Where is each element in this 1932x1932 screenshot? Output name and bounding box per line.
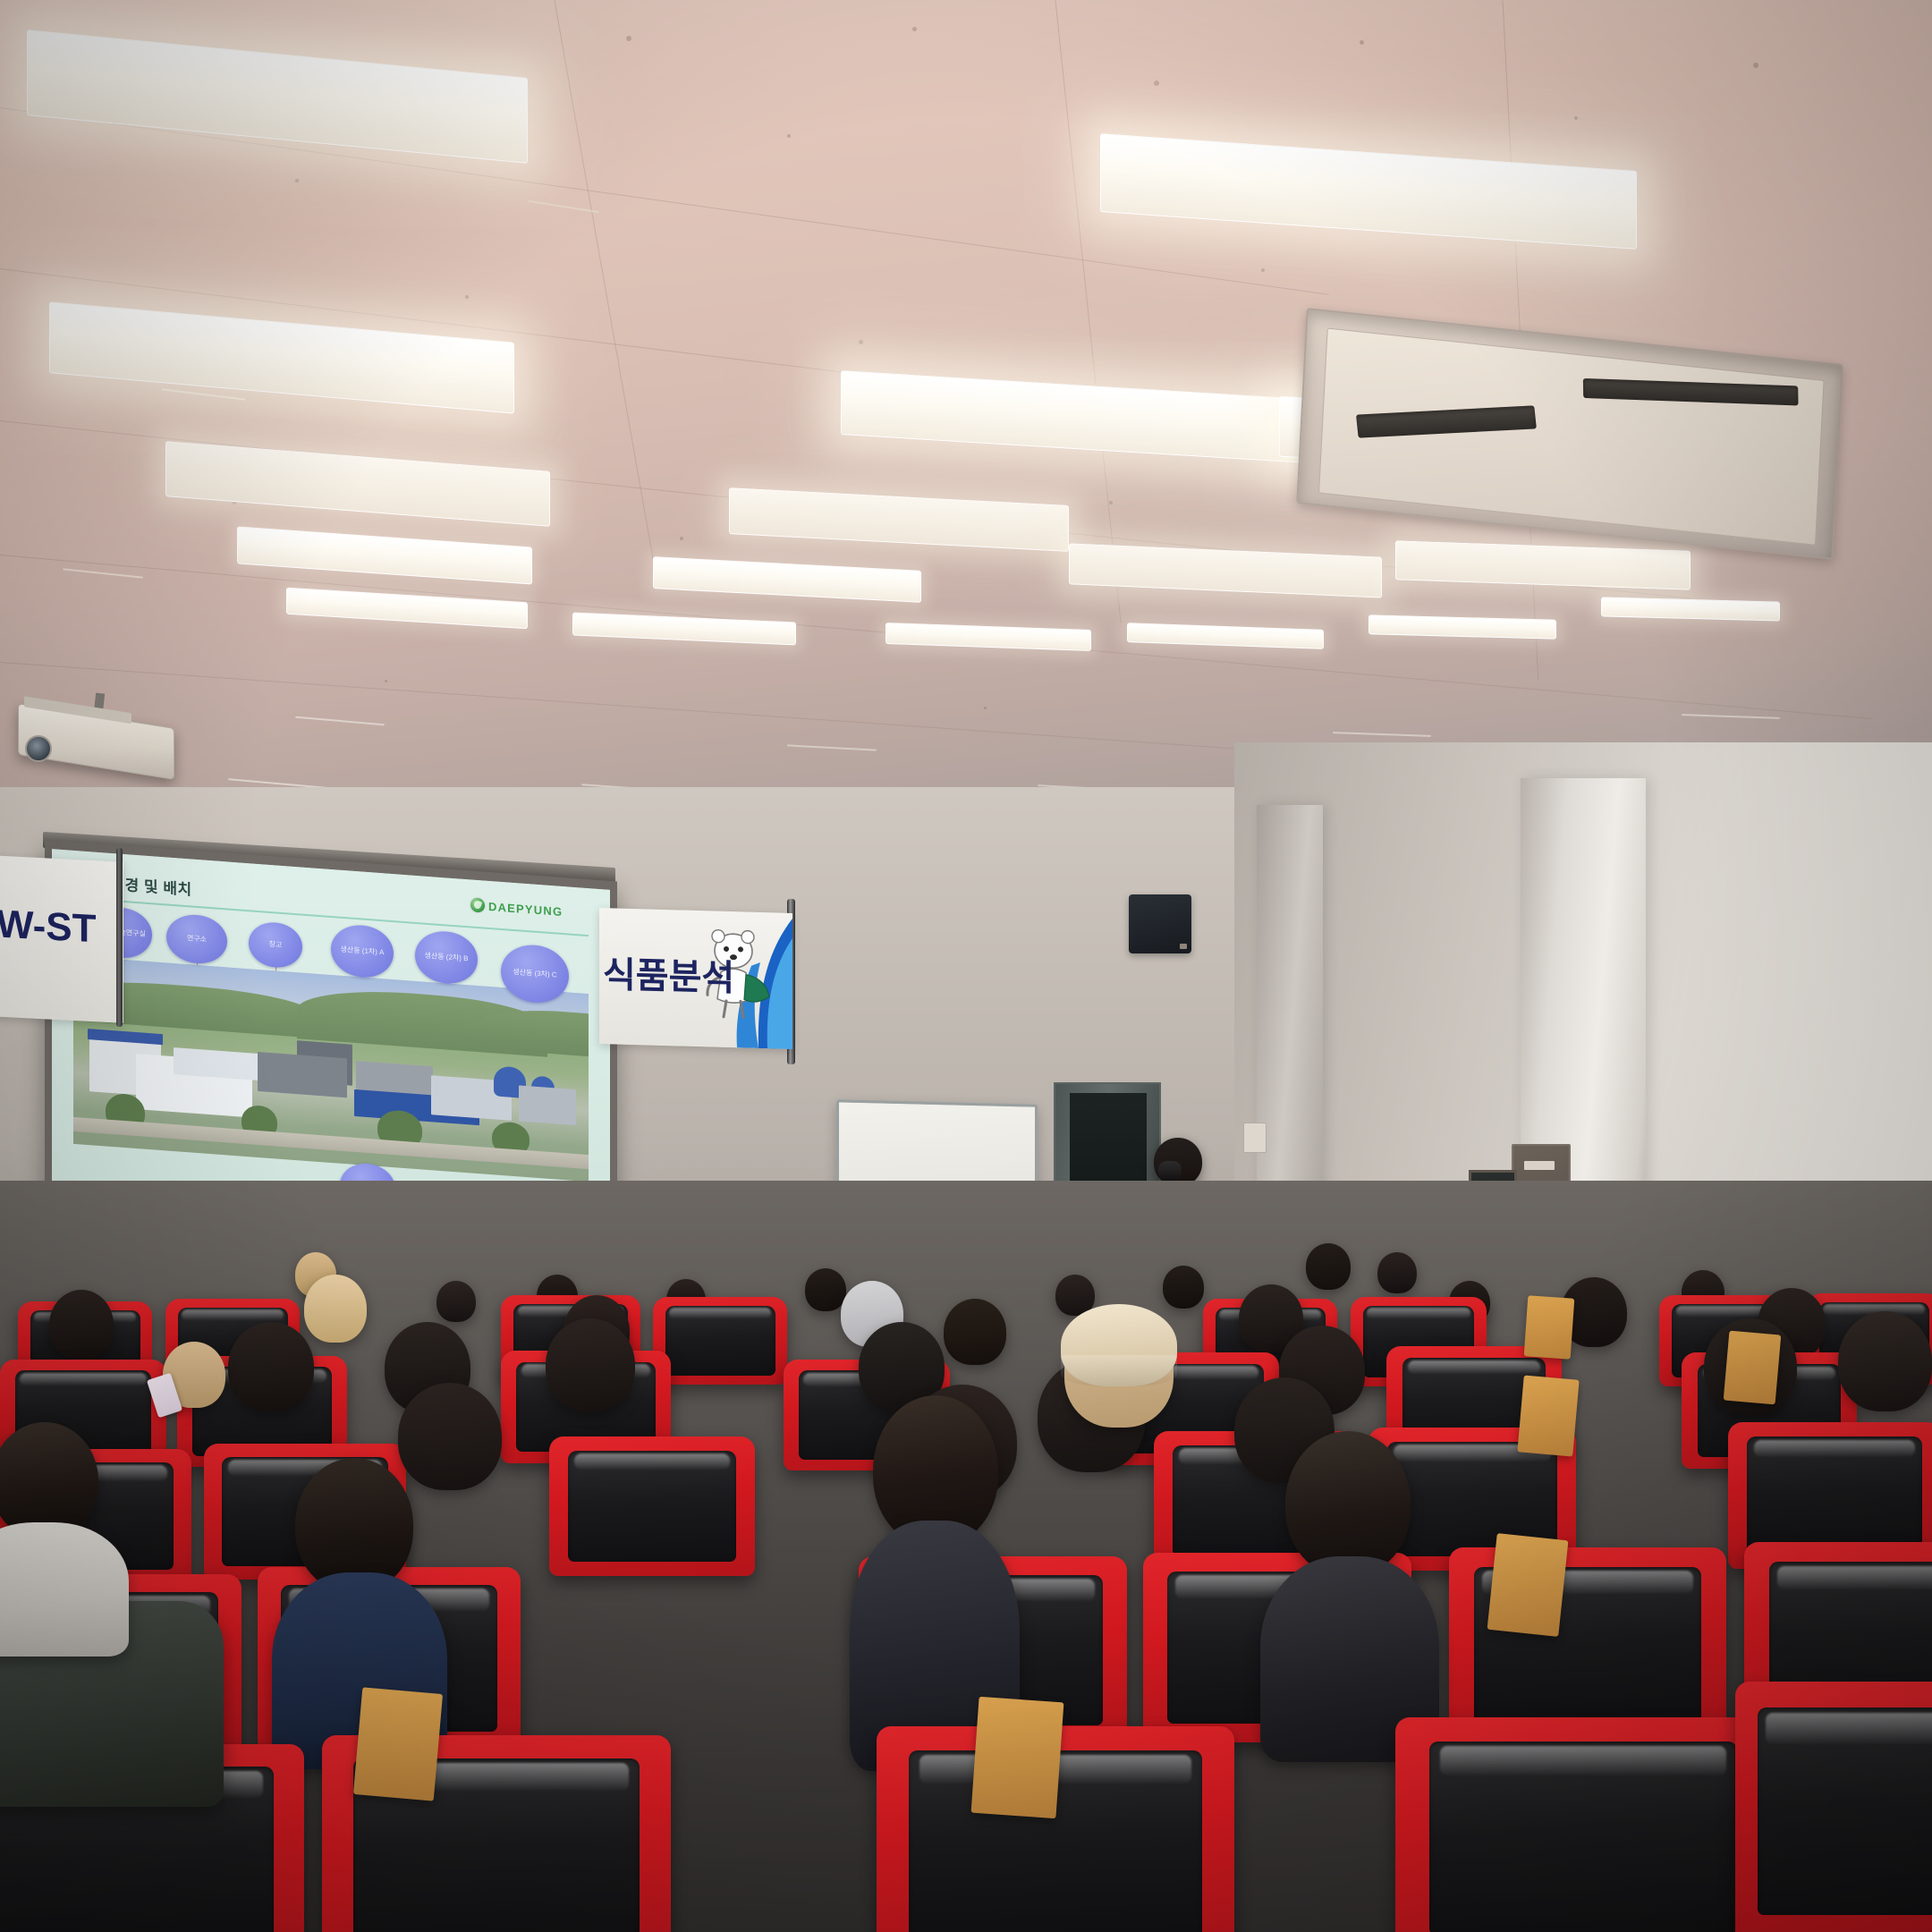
audience-member: [1163, 1266, 1204, 1309]
knit-beanie-hat: [1061, 1304, 1177, 1386]
auditorium-seat[interactable]: [549, 1436, 755, 1576]
seat-tablet-arm[interactable]: [1487, 1533, 1569, 1637]
auditorium-seat[interactable]: [1449, 1547, 1726, 1742]
audience-member: [1266, 1431, 1434, 1753]
seat-tablet-arm[interactable]: [971, 1697, 1064, 1818]
slide-callout-bubble: 생산동 (1차) A: [331, 923, 394, 979]
presenter-face-mask: [1158, 1161, 1182, 1182]
seat-tablet-arm[interactable]: [1524, 1295, 1575, 1359]
slide-callout-bubble: 연구소: [166, 912, 227, 965]
slide-callout-bubble: 창고: [249, 920, 302, 969]
left-banner-text: W-ST: [0, 902, 97, 952]
audience-member: [49, 1290, 114, 1360]
daepyung-globe-leaf-icon: [470, 897, 485, 912]
audience-member: [1377, 1252, 1417, 1293]
audience-member: [1306, 1243, 1351, 1290]
auditorium-seat[interactable]: [653, 1297, 787, 1385]
seat-tablet-arm[interactable]: [1517, 1375, 1579, 1456]
wall-mounted-speaker: [1129, 894, 1191, 953]
slide-logo-text: DAEPYUNG: [488, 899, 563, 918]
projector-lens-icon: [25, 735, 52, 762]
audience-member: [944, 1299, 1006, 1365]
audience-member: [1838, 1311, 1932, 1411]
seat-tablet-arm[interactable]: [1724, 1331, 1782, 1405]
power-outlet[interactable]: [1243, 1123, 1267, 1153]
auditorium-seat[interactable]: [1395, 1717, 1771, 1932]
audience-member: [546, 1318, 635, 1411]
slide-callout-bubble: 생산동 (2차) B: [415, 929, 478, 986]
left-banner-rod: [116, 848, 123, 1027]
right-banner: 식품분석: [599, 908, 792, 1049]
auditorium-seat[interactable]: [1735, 1682, 1932, 1932]
right-banner-text: 식품분석: [603, 945, 734, 1001]
seat-tablet-arm[interactable]: [353, 1687, 443, 1801]
lecture-hall-scene: 공장 전경 및 배치 DAEPYUNG: [0, 0, 1932, 1932]
audience-member: [436, 1281, 476, 1322]
slide-brand-logo: DAEPYUNG: [470, 897, 563, 919]
left-banner: W-ST: [0, 855, 123, 1023]
audience-member: [228, 1322, 314, 1411]
audience-member-with-beanie: [1064, 1315, 1174, 1428]
audience-member: [0, 1422, 125, 1646]
